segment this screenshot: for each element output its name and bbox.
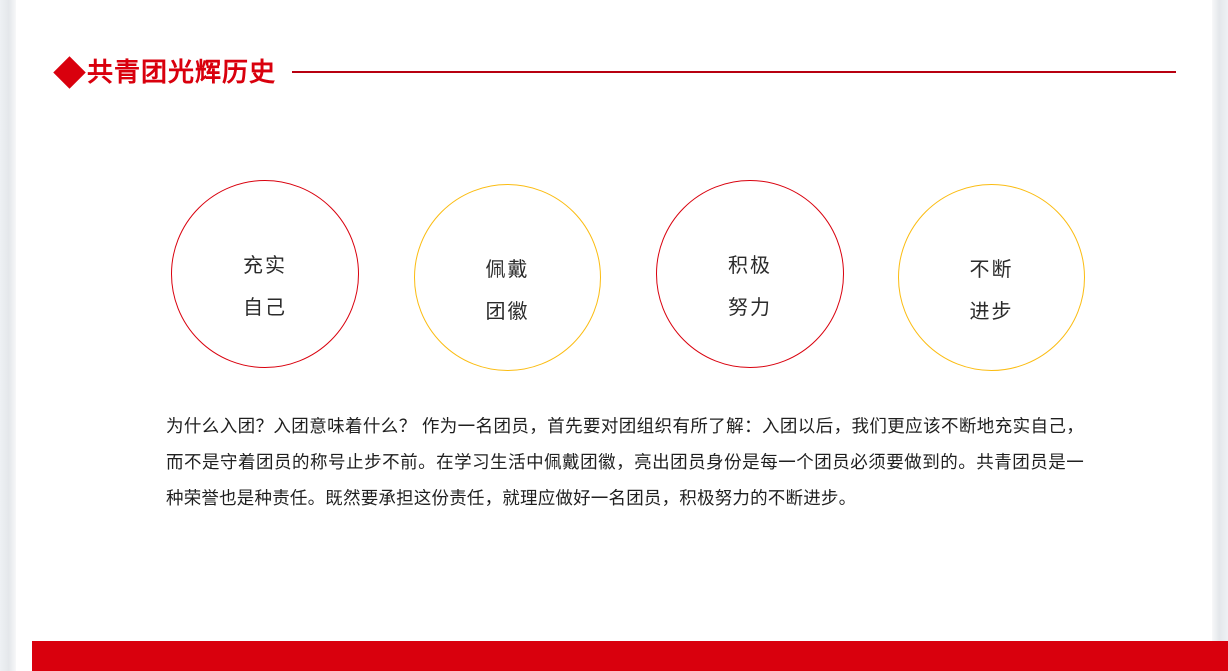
circle-item-1-labels: 充实 自己 bbox=[243, 256, 287, 318]
circle-item-1-line1: 充实 bbox=[243, 256, 287, 276]
workspace-gutter-right bbox=[1212, 0, 1228, 671]
circle-item-3-line2: 努力 bbox=[728, 298, 772, 318]
circle-item-2: 佩戴 团徽 bbox=[414, 184, 601, 371]
circle-item-4-line1: 不断 bbox=[970, 260, 1014, 280]
circle-item-3-line1: 积极 bbox=[728, 256, 772, 276]
circle-item-4-line2: 进步 bbox=[970, 302, 1014, 322]
body-paragraph: 为什么入团？入团意味着什么？ 作为一名团员，首先要对团组织有所了解：入团以后，我… bbox=[166, 408, 1084, 516]
footer-accent-band bbox=[32, 641, 1228, 671]
diamond-icon bbox=[53, 56, 86, 89]
workspace-gutter-left bbox=[0, 0, 16, 671]
page-title: 共青团光辉历史 bbox=[87, 59, 276, 85]
circle-item-1-line2: 自己 bbox=[243, 298, 287, 318]
circle-item-2-line2: 团徽 bbox=[486, 302, 530, 322]
circle-item-4: 不断 进步 bbox=[898, 184, 1085, 371]
circle-item-2-line1: 佩戴 bbox=[486, 260, 530, 280]
slide-canvas: 共青团光辉历史 充实 自己 佩戴 团徽 积极 努力 bbox=[16, 0, 1212, 671]
circle-item-2-labels: 佩戴 团徽 bbox=[486, 260, 530, 322]
slide-root: 共青团光辉历史 充实 自己 佩戴 团徽 积极 努力 bbox=[0, 0, 1228, 671]
circle-item-3-labels: 积极 努力 bbox=[728, 256, 772, 318]
circle-item-1: 充实 自己 bbox=[171, 180, 359, 368]
circle-item-3: 积极 努力 bbox=[656, 180, 844, 368]
slide-heading: 共青团光辉历史 bbox=[58, 48, 1188, 96]
circle-group: 充实 自己 佩戴 团徽 积极 努力 不断 进步 bbox=[171, 178, 1091, 376]
circle-item-4-labels: 不断 进步 bbox=[970, 260, 1014, 322]
heading-divider-rule bbox=[292, 71, 1176, 73]
